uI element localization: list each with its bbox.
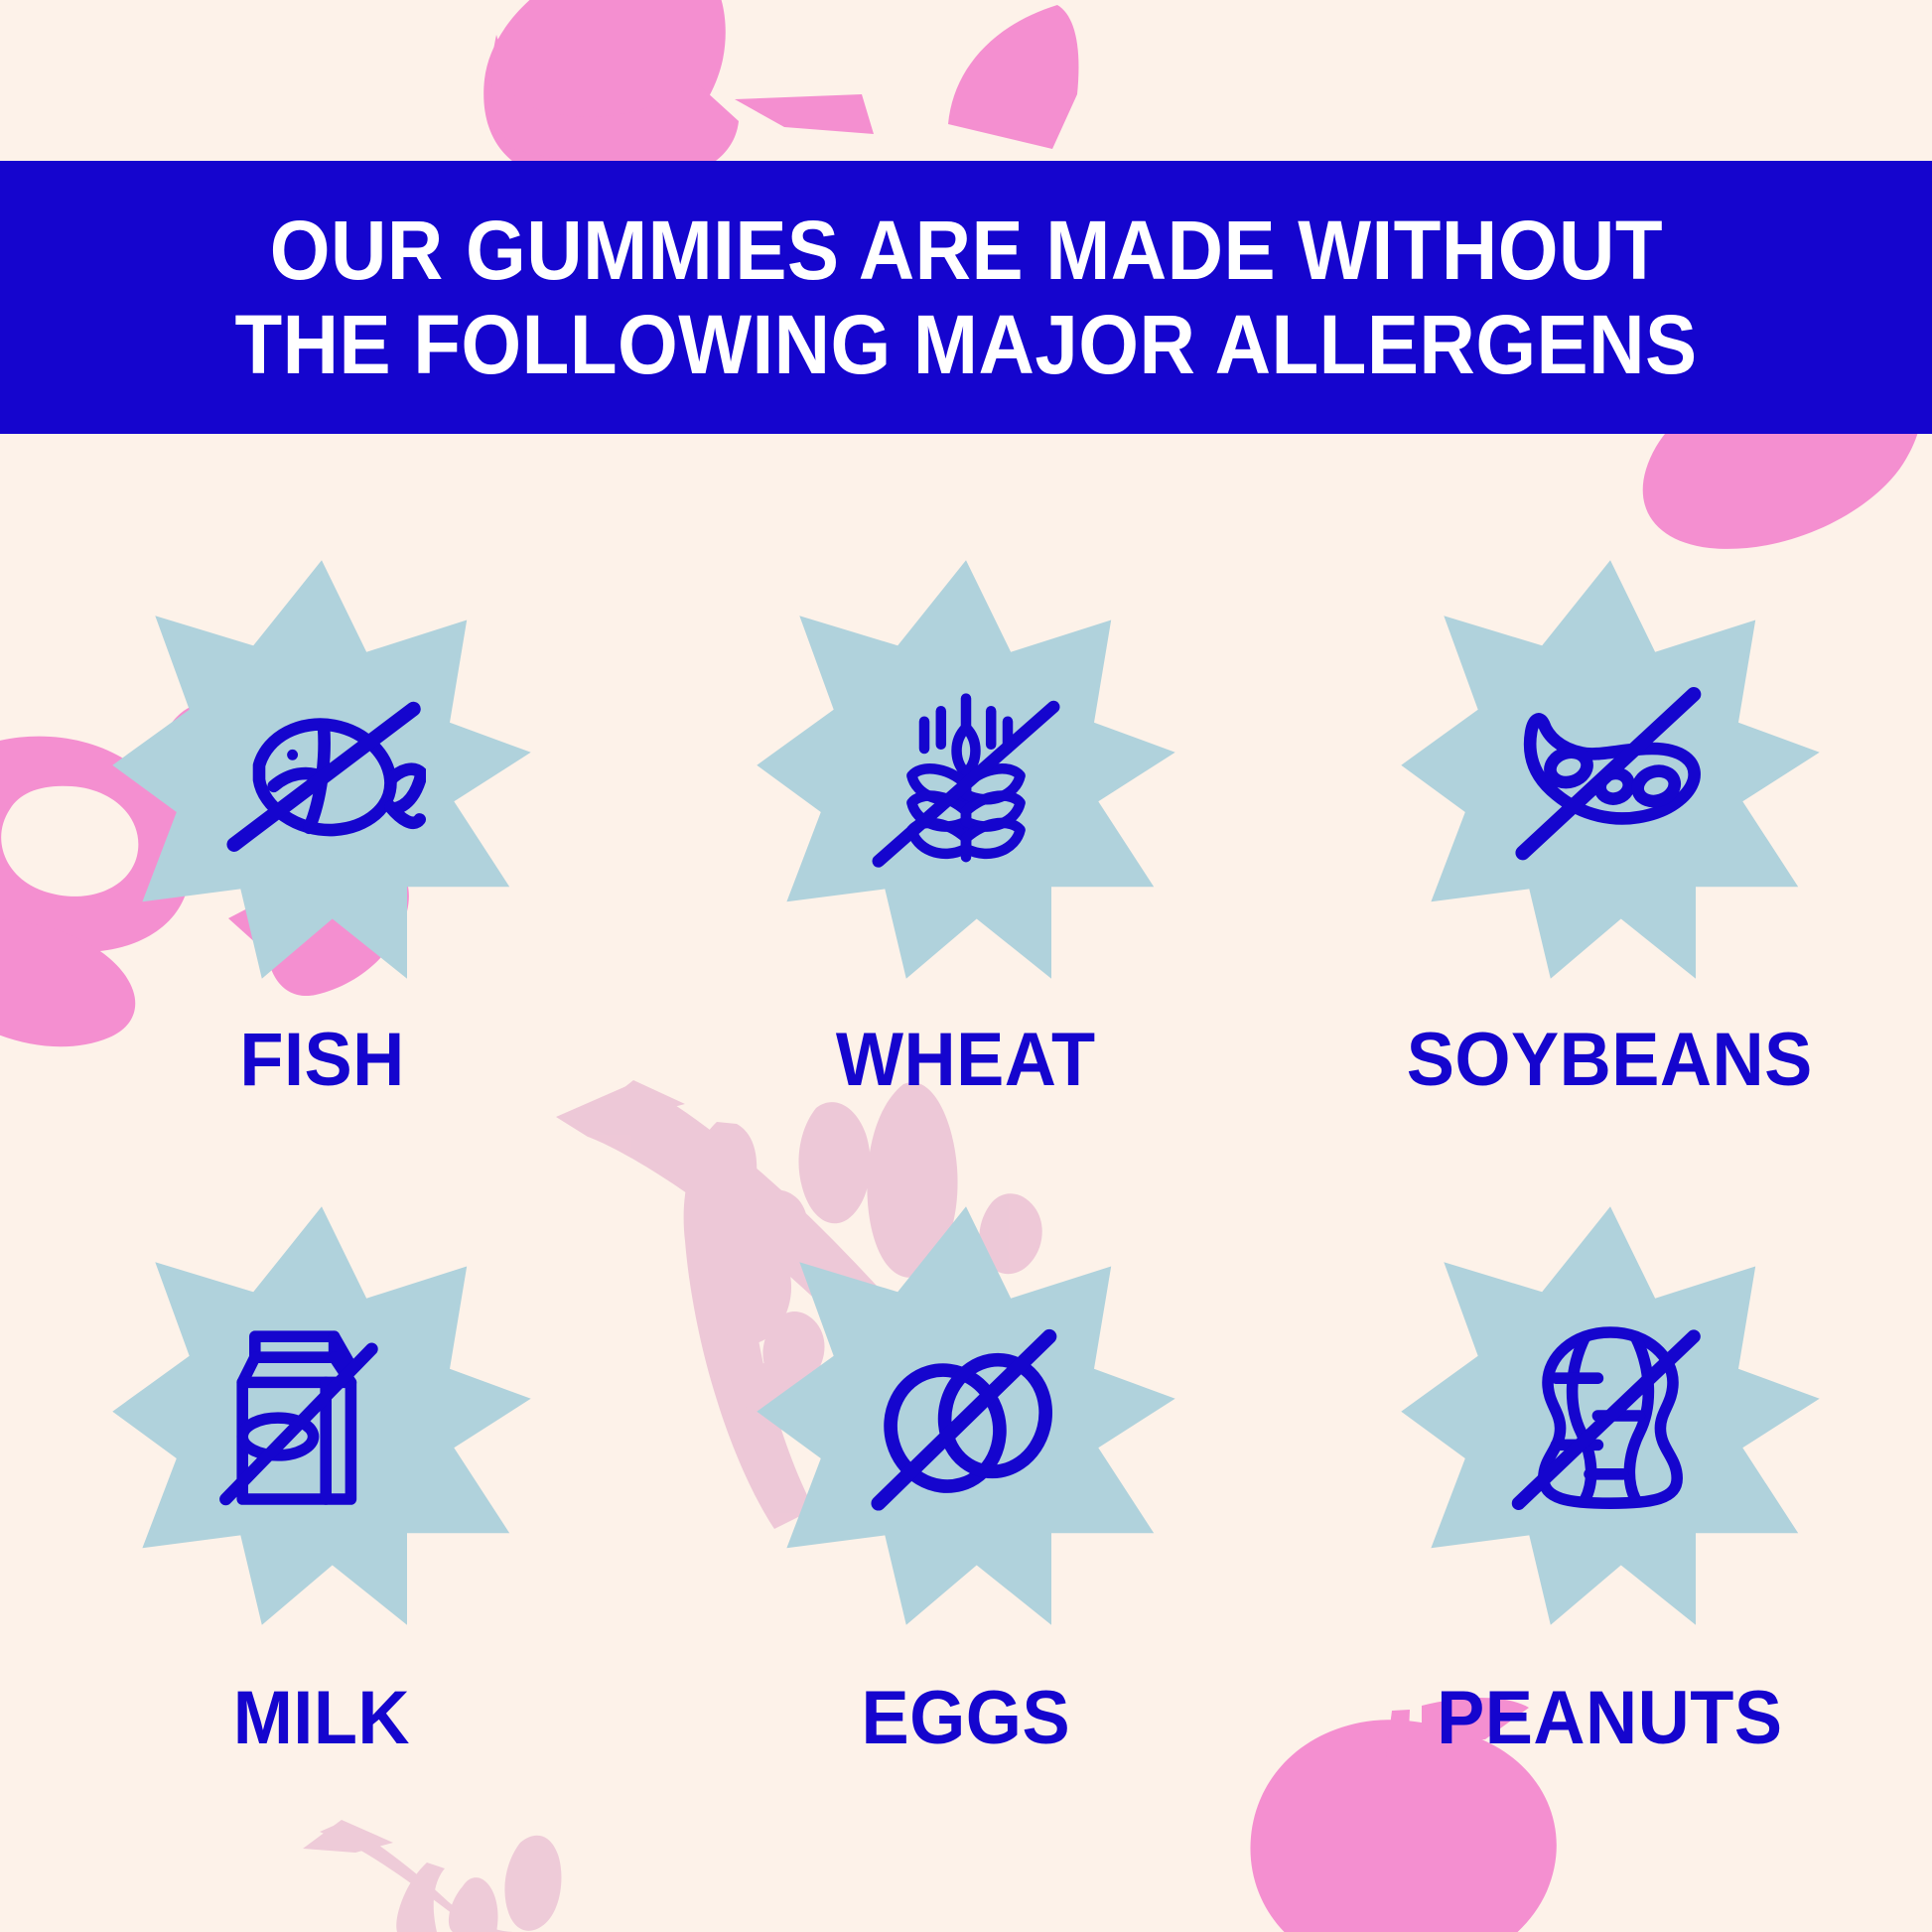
allergen-label-peanuts: PEANUTS [1437, 1675, 1782, 1761]
allergen-item-wheat: WHEAT [644, 556, 1289, 1103]
eggs-badge [753, 1202, 1179, 1629]
allergen-label-fish: FISH [239, 1017, 404, 1103]
cherry-top-center-decoration [483, 0, 874, 179]
soybeans-badge [1397, 556, 1824, 983]
milk-carton-crossed-out-icon [217, 1311, 426, 1520]
pomegranate-bottom-faded-decoration [303, 1820, 561, 1932]
peanuts-badge [1397, 1202, 1824, 1629]
allergen-label-eggs: EGGS [862, 1675, 1071, 1761]
fish-crossed-out-icon [217, 665, 426, 874]
allergen-infographic: OUR GUMMIES ARE MADE WITHOUT THE FOLLOWI… [0, 0, 1932, 1932]
wheat-crossed-out-icon [862, 665, 1070, 874]
allergen-item-eggs: EGGS [644, 1202, 1289, 1761]
allergen-item-soybeans: SOYBEANS [1288, 556, 1932, 1103]
milk-badge [108, 1202, 535, 1629]
allergen-label-wheat: WHEAT [836, 1017, 1096, 1103]
banner-line-1: OUR GUMMIES ARE MADE WITHOUT [269, 204, 1662, 297]
allergen-item-fish: FISH [0, 556, 644, 1103]
allergen-item-peanuts: PEANUTS [1288, 1202, 1932, 1761]
allergen-item-milk: MILK [0, 1202, 644, 1761]
leaf-top-center-decoration [948, 5, 1078, 149]
soybeans-crossed-out-icon [1506, 665, 1715, 874]
eggs-crossed-out-icon [862, 1311, 1070, 1520]
allergen-grid: FISH [0, 556, 1932, 1761]
fish-badge [108, 556, 535, 983]
allergen-label-soybeans: SOYBEANS [1407, 1017, 1813, 1103]
banner-line-2: THE FOLLOWING MAJOR ALLERGENS [234, 298, 1697, 391]
header-banner: OUR GUMMIES ARE MADE WITHOUT THE FOLLOWI… [0, 161, 1932, 434]
allergen-label-milk: MILK [233, 1675, 410, 1761]
peanut-crossed-out-icon [1506, 1311, 1715, 1520]
wheat-badge [753, 556, 1179, 983]
